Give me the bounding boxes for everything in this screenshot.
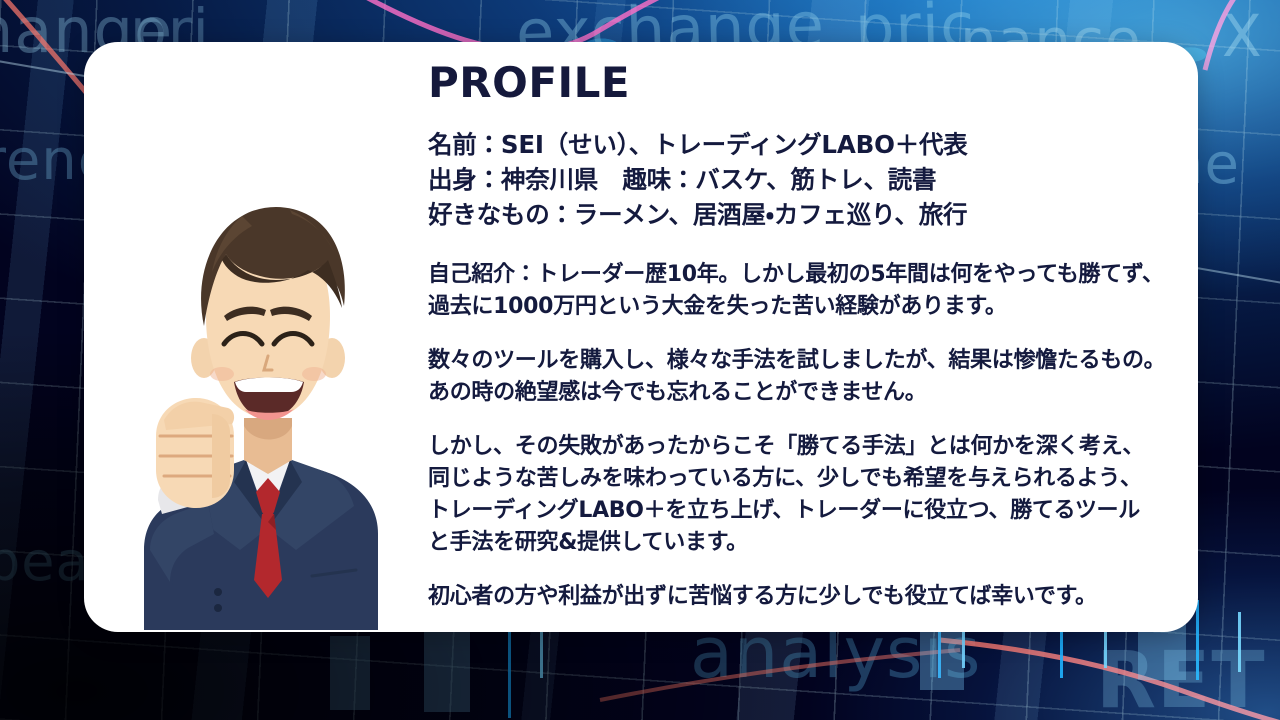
paragraph-line: しかし、その失敗があったからこそ「勝てる手法」とは何かを深く考え、 <box>428 431 1188 463</box>
identity-line-likes: 好きなもの：ラーメン、居酒屋・カフェ巡り、旅行 <box>428 198 1188 233</box>
paragraph-line: 自己紹介：トレーダー歴10年。しかし最初の5年間は何をやっても勝てず、 <box>428 259 1188 291</box>
paragraph-turning-point: しかし、その失敗があったからこそ「勝てる手法」とは何かを深く考え、 同じような苦… <box>428 431 1188 559</box>
paragraph-line: 数々のツールを購入し、様々な手法を試しましたが、結果は惨憺たるもの。 <box>428 345 1188 377</box>
identity-block: 名前：SEI（せい）、トレーディングLABO＋代表 出身：神奈川県 趣味：バスケ… <box>428 128 1188 232</box>
profile-card: PROFILE 名前：SEI（せい）、トレーディングLABO＋代表 出身：神奈川… <box>84 42 1198 632</box>
profile-text-column: PROFILE 名前：SEI（せい）、トレーディングLABO＋代表 出身：神奈川… <box>428 60 1188 614</box>
profile-slide: hange pri exchange pric nance X rrenc ne… <box>0 0 1280 720</box>
paragraph-line: と手法を研究&提供しています。 <box>428 527 1188 559</box>
identity-line-origin: 出身：神奈川県 趣味：バスケ、筋トレ、読書 <box>428 163 1188 198</box>
paragraph-line: 過去に1000万円という大金を失った苦い経験があります。 <box>428 291 1188 323</box>
paragraph-line: 同じような苦しみを味わっている方に、少しでも希望を与えられるよう、 <box>428 463 1188 495</box>
paragraph-line: 初心者の方や利益が出ずに苦悩する方に少しでも役立てば幸いです。 <box>428 581 1188 613</box>
paragraph-line: トレーディングLABO＋を立ち上げ、トレーダーに役立つ、勝てるツール <box>428 495 1188 527</box>
avatar <box>94 130 424 630</box>
page-title: PROFILE <box>428 60 1188 106</box>
businessman-illustration <box>94 130 424 630</box>
identity-line-name: 名前：SEI（せい）、トレーディングLABO＋代表 <box>428 128 1188 163</box>
paragraph-self-intro: 自己紹介：トレーダー歴10年。しかし最初の5年間は何をやっても勝てず、 過去に1… <box>428 259 1188 323</box>
paragraph-tools-failure: 数々のツールを購入し、様々な手法を試しましたが、結果は惨憺たるもの。 あの時の絶… <box>428 345 1188 409</box>
paragraph-line: あの時の絶望感は今でも忘れることができません。 <box>428 377 1188 409</box>
paragraph-closing: 初心者の方や利益が出ずに苦悩する方に少しでも役立てば幸いです。 <box>428 581 1188 613</box>
